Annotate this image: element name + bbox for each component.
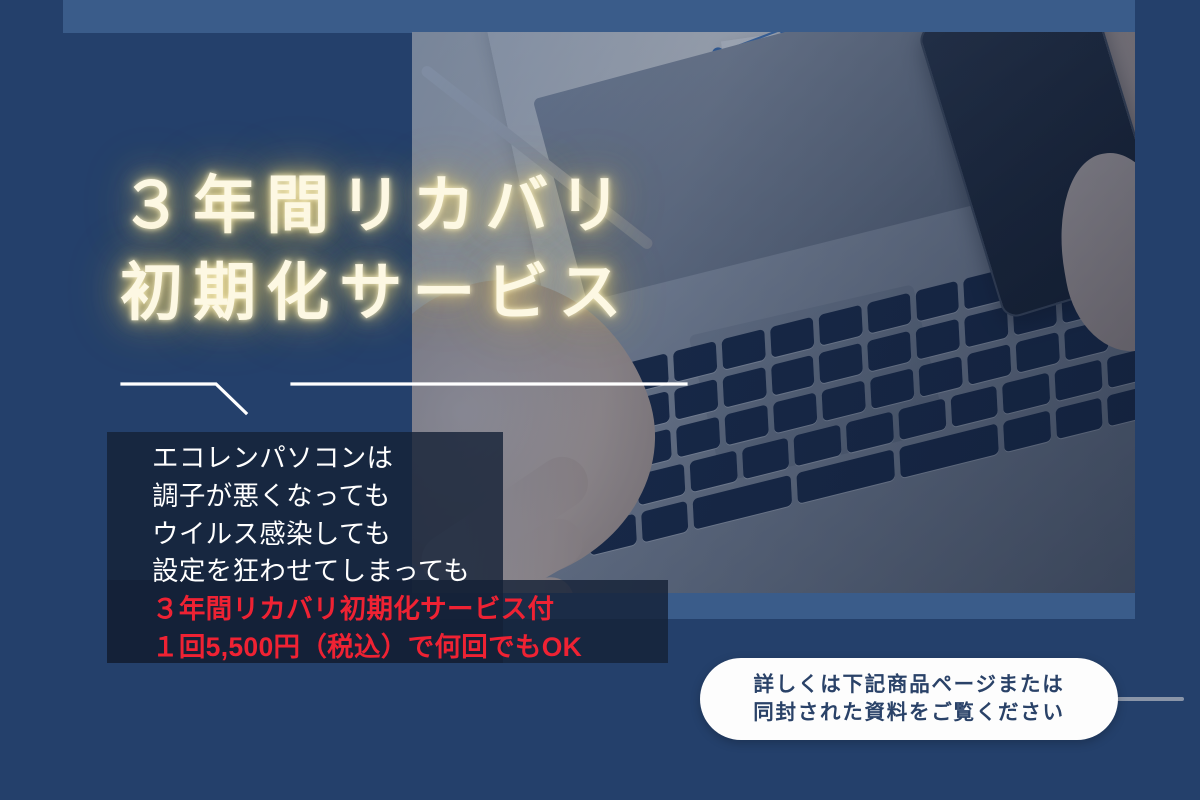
body-copy: エコレンパソコンは 調子が悪くなっても ウイルス感染しても 設定を狂わせてしまっ… [152,440,692,667]
body-line: ウイルス感染しても [152,516,692,554]
promotional-banner: ３年間リカバリ 初期化サービス エコレンパソコンは 調子が悪くなっても ウイルス… [0,0,1200,800]
top-accent-band [63,0,1135,33]
body-line-highlight: ３年間リカバリ初期化サービス付 [152,591,692,629]
body-line: エコレンパソコンは [152,440,692,478]
headline-line-2: 初期化サービス [120,250,900,337]
callout-pill[interactable]: 詳しくは下記商品ページまたは 同封された資料をご覧ください [700,658,1118,740]
body-line: 設定を狂わせてしまっても [152,553,692,591]
body-line: 調子が悪くなっても [152,478,692,516]
headline: ３年間リカバリ 初期化サービス [120,163,900,337]
headline-line-1: ３年間リカバリ [120,163,900,250]
body-line-highlight: １回5,500円（税込）で何回でもOK [152,629,692,667]
callout-line-1: 詳しくは下記商品ページまたは [754,673,1065,698]
callout-line-2: 同封された資料をご覧ください [753,701,1064,726]
